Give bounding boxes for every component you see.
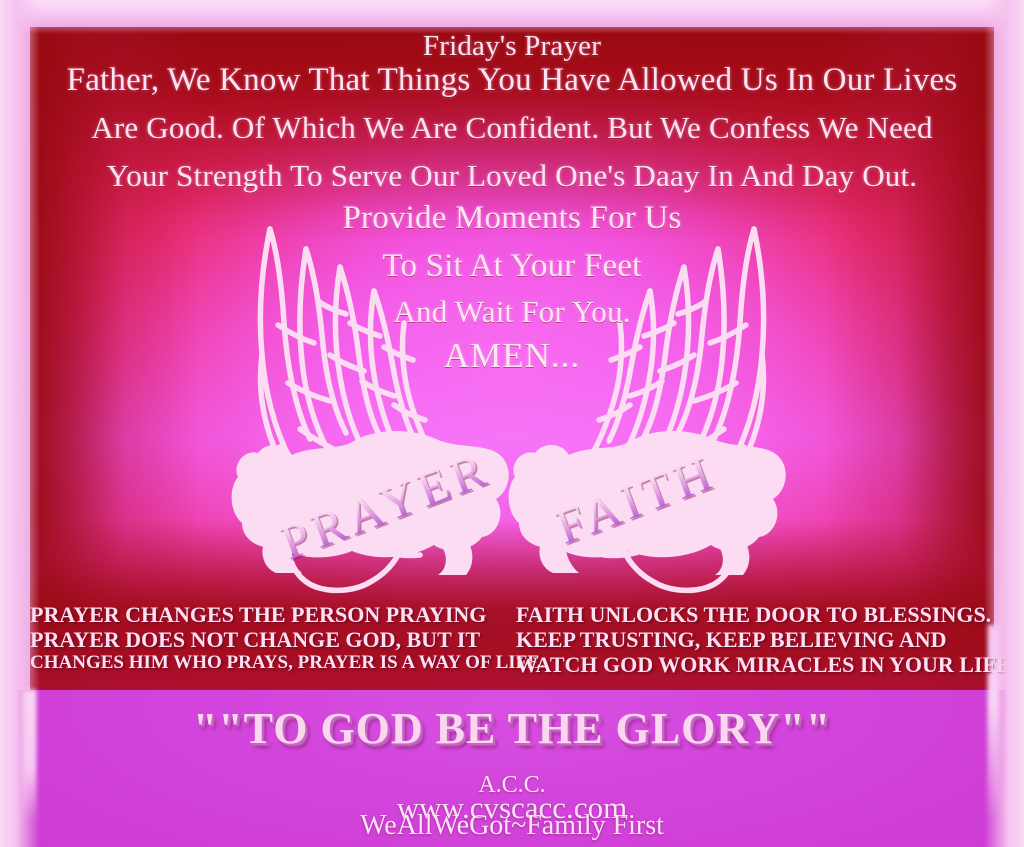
prayer-poster: PRAYER FAITH Friday's Prayer Father, We … bbox=[0, 0, 1024, 847]
footer-tagline: WeAllWeGot~Family First bbox=[0, 810, 1024, 842]
prayer-line-amen: AMEN... bbox=[0, 336, 1024, 376]
prayer-statement-line-1: PRAYER CHANGES THE PERSON PRAYING bbox=[30, 602, 545, 627]
prayer-line-1: Father, We Know That Things You Have All… bbox=[0, 62, 1024, 99]
faith-statement-line-2: KEEP TRUSTING, KEEP BELIEVING AND bbox=[516, 627, 1011, 652]
ribbon-banner-icon-left: PRAYER bbox=[228, 425, 518, 575]
prayer-line-3: Your Strength To Serve Our Loved One's D… bbox=[0, 158, 1024, 194]
prayer-statement-line-2: PRAYER DOES NOT CHANGE GOD, BUT IT bbox=[30, 627, 545, 652]
prayer-line-5: To Sit At Your Feet bbox=[0, 248, 1024, 285]
ribbon-banner-icon-right: FAITH bbox=[505, 425, 795, 575]
prayer-line-6: And Wait For You. bbox=[0, 294, 1024, 330]
faith-statement-line-3: WATCH GOD WORK MIRACLES IN YOUR LIFE bbox=[516, 652, 1011, 677]
prayer-statement-line-3: CHANGES HIM WHO PRAYS, PRAYER IS A WAY O… bbox=[30, 652, 545, 674]
prayer-line-2: Are Good. Of Which We Are Confident. But… bbox=[0, 110, 1024, 146]
prayer-line-4: Provide Moments For Us bbox=[0, 200, 1024, 237]
faith-statement-line-1: FAITH UNLOCKS THE DOOR TO BLESSINGS. bbox=[516, 602, 1011, 627]
faith-statement-column: FAITH UNLOCKS THE DOOR TO BLESSINGS. KEE… bbox=[516, 602, 1011, 677]
prayer-statement-column: PRAYER CHANGES THE PERSON PRAYING PRAYER… bbox=[30, 602, 545, 674]
poster-title: Friday's Prayer bbox=[0, 30, 1024, 63]
glory-headline: ""TO GOD BE THE GLORY"" bbox=[0, 703, 1024, 754]
